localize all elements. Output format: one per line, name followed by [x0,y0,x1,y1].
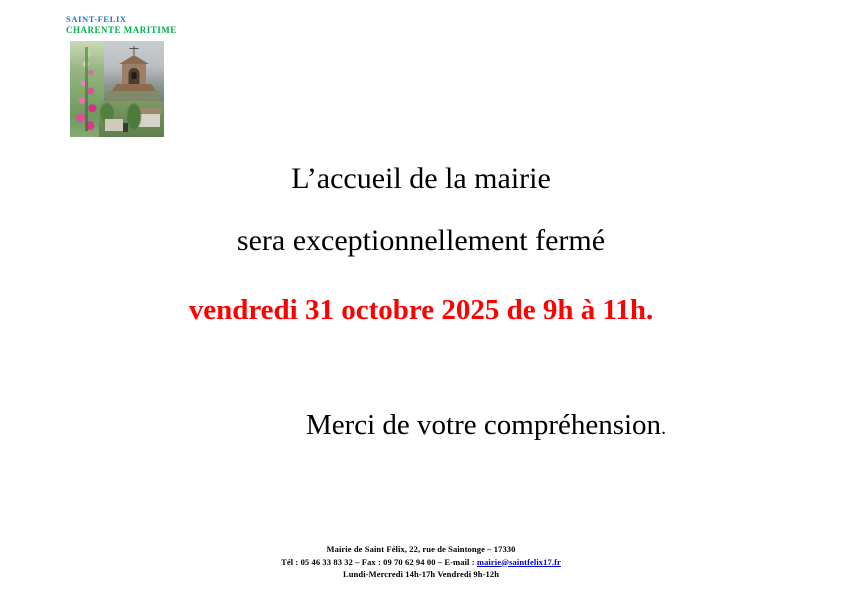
letterhead-commune-name: SAINT-FELIX [66,14,256,25]
footer-address: Mairie de Saint Félix, 22, rue de Sainto… [0,543,842,556]
footer-contact-line: Tél : 05 46 33 83 32 – Fax : 09 70 62 94… [0,556,842,569]
church-bell-tower-photo [104,41,164,105]
footer-contact-text: Tél : 05 46 33 83 32 – Fax : 09 70 62 94… [281,557,477,567]
notice-thanks-period: . [661,417,666,439]
letterhead-department-name: CHARENTE MARITIME [66,25,256,36]
village-tree-center [125,103,143,133]
notice-closure-date: vendredi 31 octobre 2025 de 9h à 11h. [0,292,842,328]
notice-line-1: L’accueil de la mairie [0,160,842,198]
letterhead: SAINT-FELIX CHARENTE MARITIME [66,14,256,36]
footer-opening-hours: Lundi-Mercredi 14h-17h Vendredi 9h-12h [0,568,842,581]
village-wall-left [105,119,123,131]
church-roof-shape [119,55,149,64]
church-bell-icon [132,72,137,79]
notice-line-2: sera exceptionnellement fermé [0,222,842,260]
notice-thanks-text: Merci de votre compréhension [306,409,661,441]
footer: Mairie de Saint Félix, 22, rue de Sainto… [0,543,842,581]
notice-thanks-line: Merci de votre compréhension. [0,406,842,447]
church-cross-icon [134,46,135,55]
village-photo-collage [70,41,164,137]
footer-email-link[interactable]: mairie@saintfelix17.fr [477,557,561,567]
village-houses-photo [99,101,164,137]
